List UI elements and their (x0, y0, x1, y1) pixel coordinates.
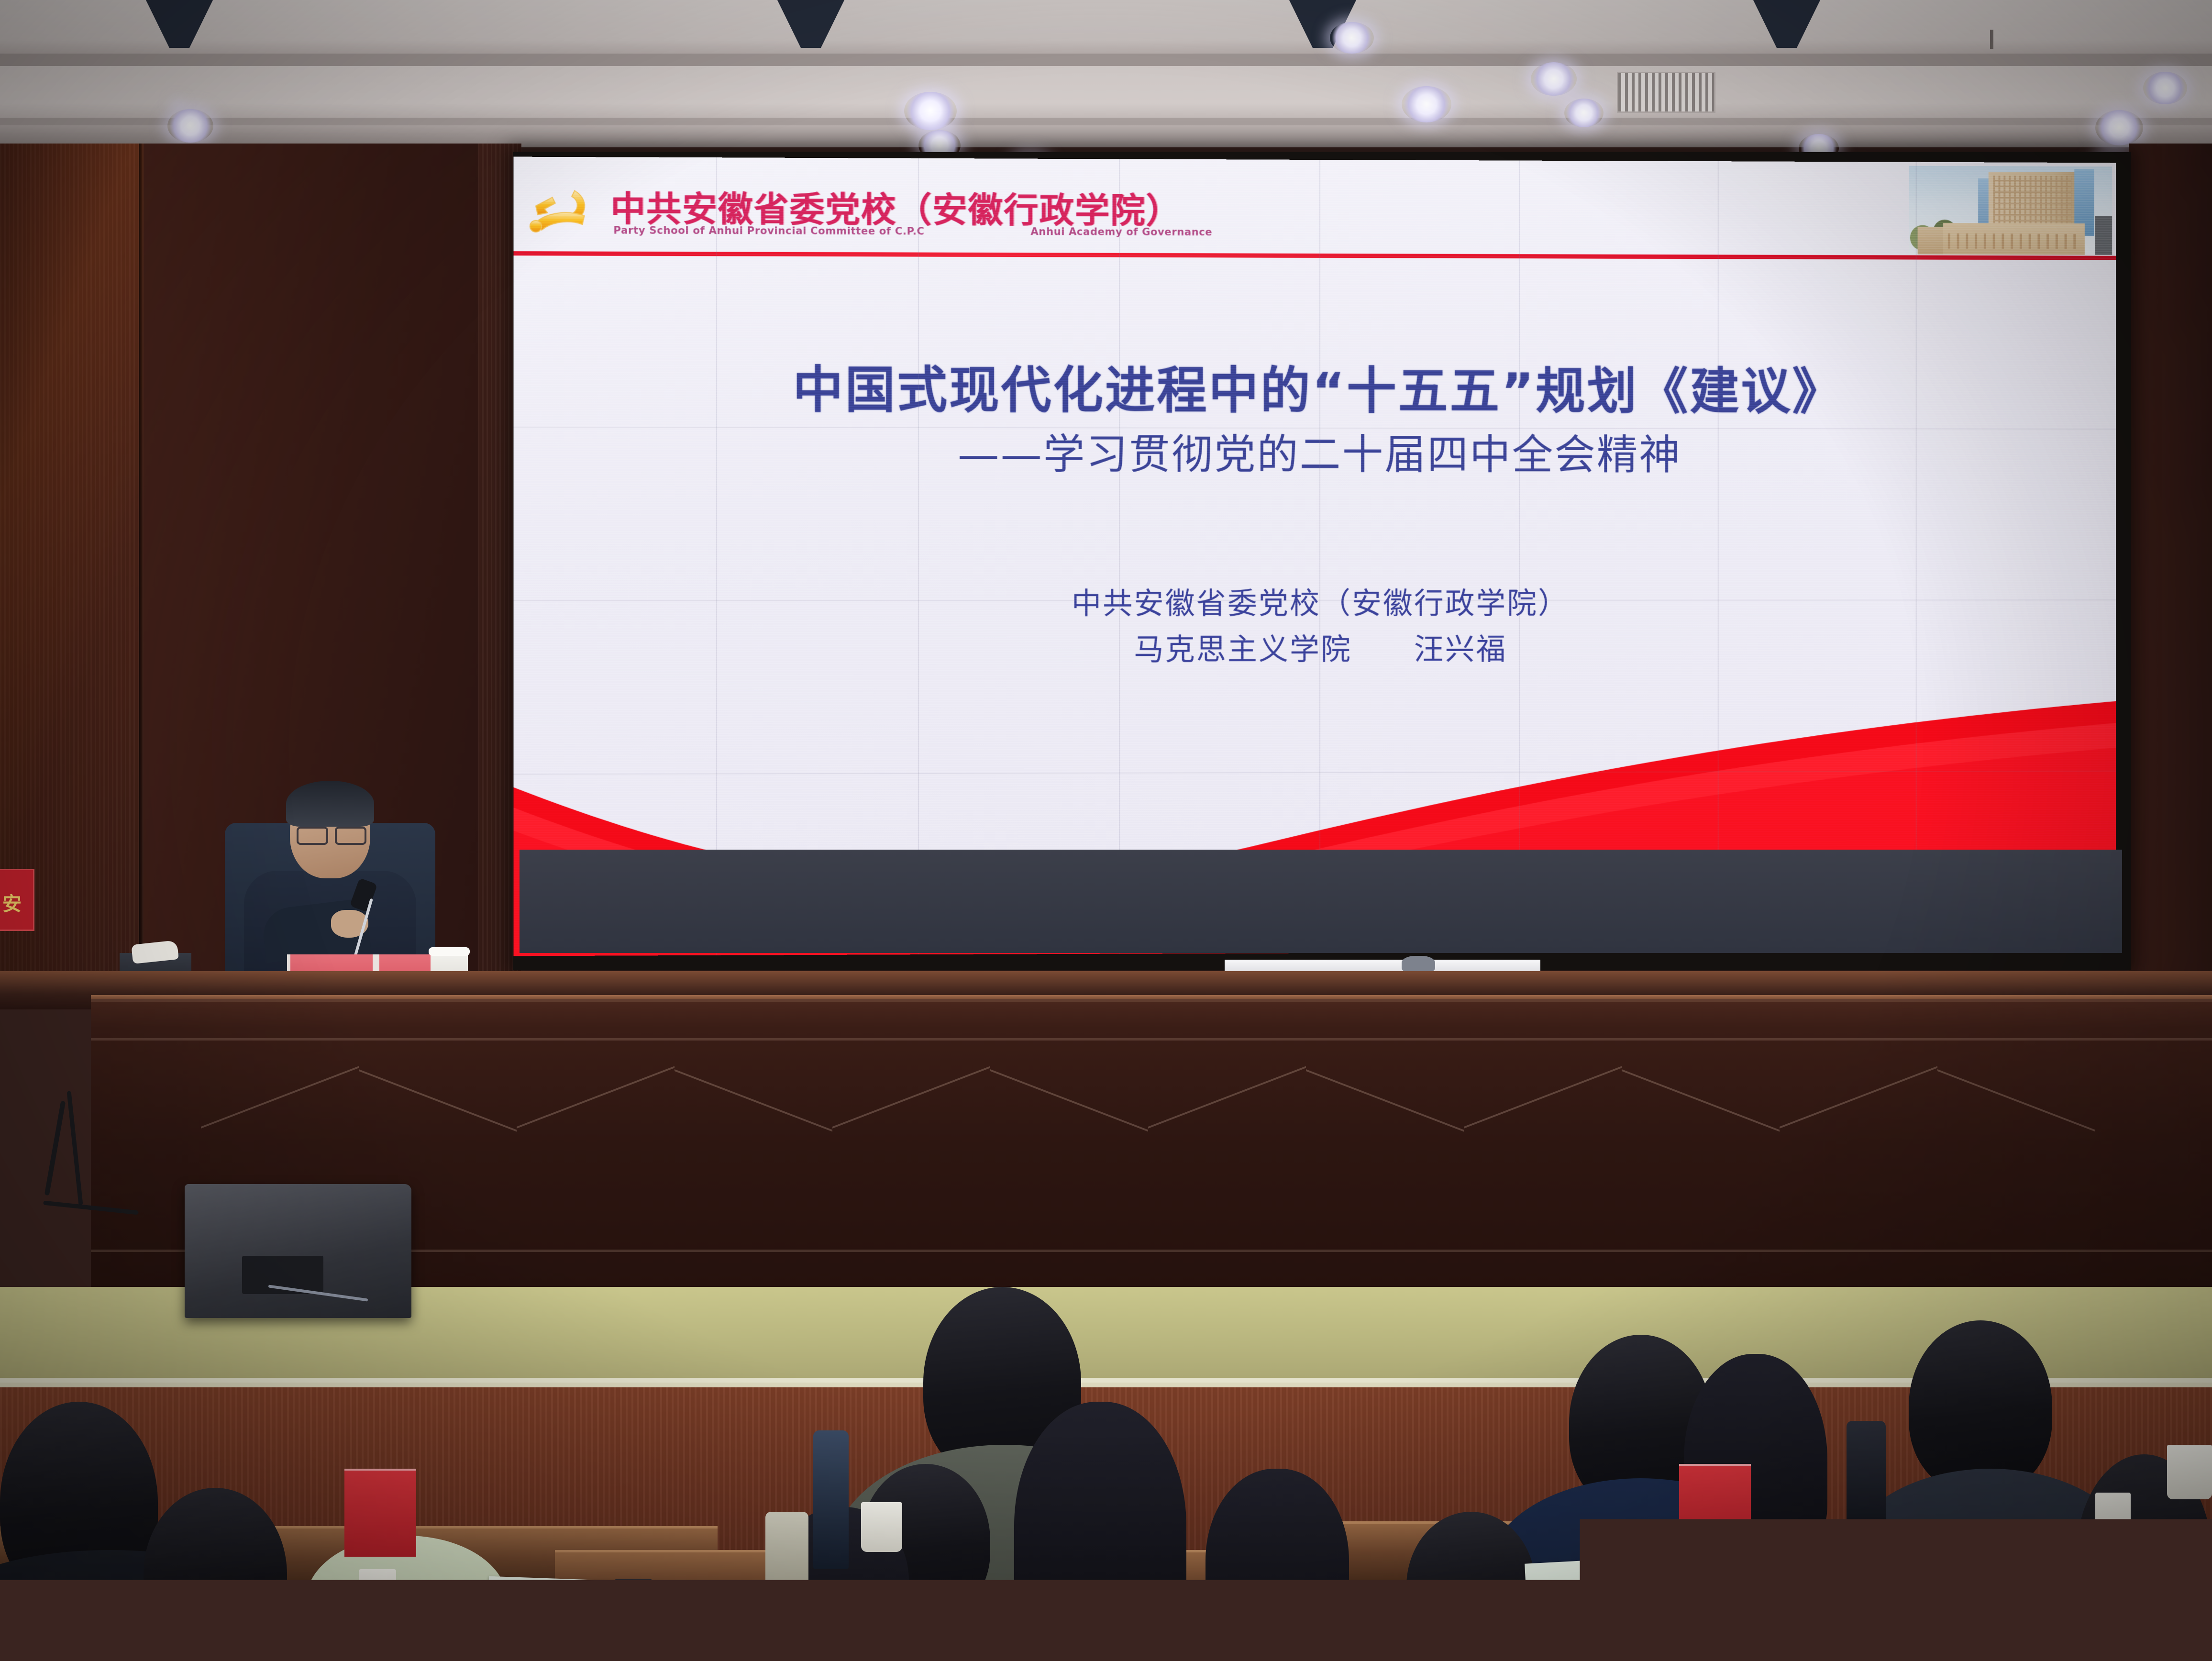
paper-cup (359, 1569, 396, 1615)
red-name-card (344, 1469, 416, 1557)
ceiling-downlight (1564, 99, 1604, 127)
ceiling-hanging-rod (1990, 30, 1993, 49)
ceiling-downlight (1531, 62, 1577, 96)
slide-title: 中国式现代化进程中的“十五五”规划《建议》 (513, 349, 2116, 423)
paper-cup (2095, 1493, 2131, 1537)
ceiling-downlight (1402, 86, 1451, 122)
campus-building-photo (1909, 166, 2112, 255)
ceiling-downlight (2143, 72, 2187, 104)
mouse (1402, 956, 1435, 973)
slide-org-title-en-right: Anhui Academy of Governance (1030, 226, 1212, 238)
slide-org-title-en-left: Party School of Anhui Provincial Committ… (613, 224, 924, 237)
presentation-slide: 中共安徽省委党校（安徽行政学院） Party School of Anhui P… (513, 157, 2116, 956)
led-screen-lower-bezel (520, 850, 2122, 953)
audience-head (1206, 1469, 1349, 1660)
ceiling-downlight (904, 92, 957, 130)
cpc-hammer-sickle-emblem (528, 184, 596, 238)
ceiling-downlight (2095, 110, 2143, 145)
notebook (487, 1576, 632, 1634)
lecture-hall-photo: 安 (0, 0, 2212, 1661)
presenter-name: 马克思主义学院 汪兴福 (513, 626, 2116, 674)
ceiling (0, 0, 2212, 144)
audience-head (1406, 1512, 1536, 1661)
notebook (1525, 1555, 1685, 1621)
paper-cup (861, 1502, 902, 1552)
notebook (1100, 1641, 1272, 1661)
notebook (1703, 1631, 1904, 1661)
presenter-org: 中共安徽省委党校（安徽行政学院） (513, 581, 2116, 628)
ceiling-downlight (167, 109, 213, 143)
wall-red-sign-text: 安 (2, 888, 22, 916)
thermos-bottle (1847, 1421, 1886, 1540)
podium-desk-moulding (91, 1038, 2212, 1041)
paper-cup (2167, 1445, 2212, 1499)
ceiling-band (0, 54, 2212, 66)
wall-red-sign: 安 (0, 869, 34, 931)
led-screen: 中共安徽省委党校（安徽行政学院） Party School of Anhui P… (513, 157, 2116, 956)
ceiling-air-vent (1617, 72, 1715, 113)
slide-header: 中共安徽省委党校（安徽行政学院） Party School of Anhui P… (513, 157, 2116, 258)
audience-head (1014, 1402, 1186, 1660)
thermos-bottle (813, 1430, 849, 1569)
right-wood-wall (2129, 144, 2212, 995)
red-name-card: 张 (2047, 1555, 2138, 1661)
floor-wedge-speaker (185, 1184, 411, 1318)
audience-head (1909, 1320, 2052, 1493)
red-name-card-text: 张 (2047, 1593, 2138, 1624)
ceiling-downlight (1330, 22, 1374, 54)
floor-cables (29, 1086, 139, 1244)
slide-presenter-block: 中共安徽省委党校（安徽行政学院） 马克思主义学院 汪兴福 (513, 581, 2116, 674)
thermos-bottle (765, 1512, 808, 1627)
red-name-card (1679, 1464, 1751, 1547)
presenter-glasses (297, 827, 364, 841)
led-screen-frame: 中共安徽省委党校（安徽行政学院） Party School of Anhui P… (513, 152, 2131, 970)
